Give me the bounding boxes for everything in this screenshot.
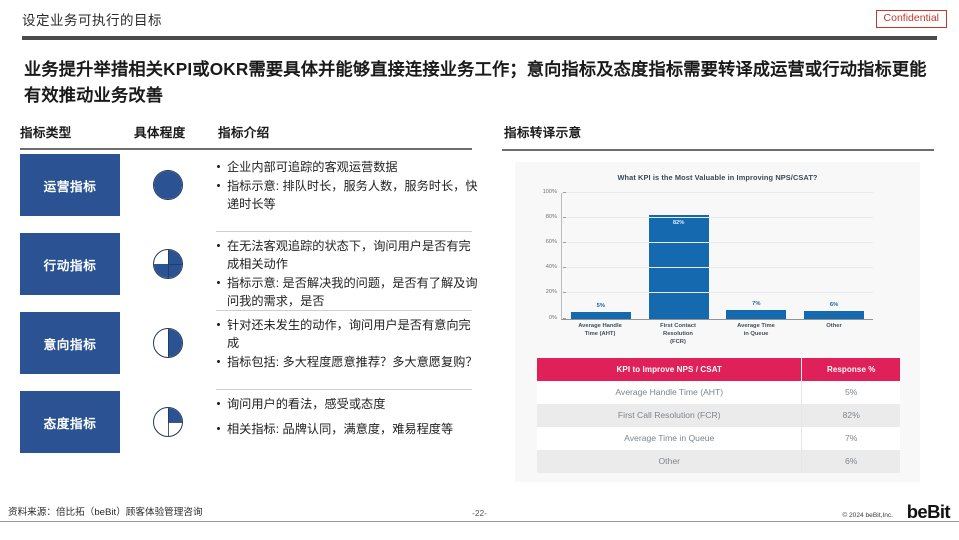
bullet-list: 针对还未发生的动作，询问用户是否有意向完成 指标包括: 多大程度愿意推荐？多大意… bbox=[216, 316, 480, 371]
right-panel-divider bbox=[502, 149, 934, 151]
description-cell: 企业内部可追踪的客观运营数据 指标示意: 排队时长，服务人数，服务时长，快递时长… bbox=[216, 154, 486, 214]
pie-divider bbox=[168, 422, 182, 423]
bullet-list: 在无法客观追踪的状态下，询问用户是否有完成相关动作 指标示意: 是否解决我的问题… bbox=[216, 237, 480, 310]
table-row: 意向指标 针对还未发生的动作，询问用户是否有意向完成 指标包括: 多大程度愿意推… bbox=[20, 312, 486, 391]
chart-y-tick-label: 0% bbox=[549, 315, 562, 321]
chart-bar-value-label: 82% bbox=[649, 220, 709, 226]
list-item: 指标示意: 是否解决我的问题，是否有了解及询问我的需求，是否 bbox=[216, 274, 480, 310]
column-header-degree: 具体程度 bbox=[134, 122, 186, 141]
embedded-report-screenshot: What KPI is the Most Valuable in Improvi… bbox=[515, 162, 920, 482]
description-cell: 在无法客观追踪的状态下，询问用户是否有完成相关动作 指标示意: 是否解决我的问题… bbox=[216, 233, 486, 311]
column-header-description: 指标介绍 bbox=[218, 122, 270, 141]
chart-y-tick-label: 20% bbox=[546, 289, 562, 295]
chart-x-tick-label: First ContactResolution(FCR) bbox=[639, 322, 717, 347]
list-item: 指标示意: 排队时长，服务人数，服务时长，快递时长等 bbox=[216, 177, 480, 213]
confidential-badge: Confidential bbox=[876, 10, 947, 28]
pie-divider bbox=[168, 264, 182, 265]
indicator-table-panel: 指标类型 具体程度 指标介绍 运营指标 企业内部可追踪的客观运营数据 指标示意:… bbox=[20, 122, 486, 482]
list-item: 询问用户的看法，感受或态度 bbox=[216, 395, 480, 413]
chart-bar-value-label: 6% bbox=[804, 302, 864, 308]
chart-bar-column: 6% bbox=[795, 193, 873, 319]
description-cell: 询问用户的看法，感受或态度 相关指标: 品牌认同，满意度，难易程度等 bbox=[216, 391, 486, 439]
chart-bar-column: 82% bbox=[640, 193, 718, 319]
chart-y-tick-label: 40% bbox=[546, 264, 562, 270]
chart-bar-column: 7% bbox=[718, 193, 796, 319]
cell-kpi-name: Average Time in Queue bbox=[537, 427, 802, 450]
chart-bar-value-label: 7% bbox=[726, 301, 786, 307]
translation-example-panel: 指标转译示意 What KPI is the Most Valuable in … bbox=[502, 122, 942, 482]
list-item: 针对还未发生的动作，询问用户是否有意向完成 bbox=[216, 316, 480, 352]
cell-response-pct: 7% bbox=[802, 427, 900, 450]
indicator-type-chip[interactable]: 意向指标 bbox=[20, 312, 120, 374]
chart-x-tick-label: Average Timein Queue bbox=[717, 322, 795, 347]
chart-y-tick-label: 60% bbox=[546, 239, 562, 245]
column-header-kpi: KPI to Improve NPS / CSAT bbox=[537, 358, 802, 381]
bullet-list: 询问用户的看法，感受或态度 相关指标: 品牌认同，满意度，难易程度等 bbox=[216, 395, 480, 438]
page-title: 设定业务可执行的目标 bbox=[22, 9, 162, 29]
chart-gridline: 40% bbox=[562, 267, 873, 268]
cell-response-pct: 82% bbox=[802, 404, 900, 427]
pie-fill bbox=[154, 171, 182, 199]
chart-x-tick-label: Average HandleTime (AHT) bbox=[561, 322, 639, 347]
cell-response-pct: 6% bbox=[802, 450, 900, 473]
description-cell: 针对还未发生的动作，询问用户是否有意向完成 指标包括: 多大程度愿意推荐？多大意… bbox=[216, 312, 486, 372]
list-item: 在无法客观追踪的状态下，询问用户是否有完成相关动作 bbox=[216, 237, 480, 273]
chart-gridline: 100% bbox=[562, 192, 873, 193]
chart-x-axis-labels: Average HandleTime (AHT)First ContactRes… bbox=[561, 322, 873, 347]
indicator-type-chip[interactable]: 行动指标 bbox=[20, 233, 120, 295]
chart-y-tick-label: 80% bbox=[546, 214, 562, 220]
cell-kpi-name: Other bbox=[537, 450, 802, 473]
pie-half-icon bbox=[153, 328, 183, 358]
table-row: Average Handle Time (AHT)5% bbox=[537, 381, 900, 404]
slide-header: 设定业务可执行的目标 Confidential bbox=[0, 0, 959, 38]
cell-kpi-name: Average Handle Time (AHT) bbox=[537, 381, 802, 404]
indicator-type-chip[interactable]: 态度指标 bbox=[20, 391, 120, 453]
column-header-response: Response % bbox=[802, 358, 900, 381]
row-divider bbox=[216, 231, 472, 232]
header-divider bbox=[22, 36, 937, 40]
column-header-divider bbox=[20, 148, 472, 150]
pie-fill bbox=[154, 264, 168, 278]
degree-cell bbox=[120, 154, 216, 216]
chart-plot-area: 5%82%7%6% 0%20%40%60%80%100% bbox=[561, 193, 873, 320]
chart-gridline: 0% bbox=[562, 318, 873, 319]
chart-bar-column: 5% bbox=[562, 193, 640, 319]
kpi-response-table: KPI to Improve NPS / CSAT Response % Ave… bbox=[537, 358, 900, 473]
table-header-row: KPI to Improve NPS / CSAT Response % bbox=[537, 358, 900, 381]
pie-fill bbox=[168, 329, 182, 357]
bebit-logo: beBit bbox=[907, 501, 950, 523]
footer-divider bbox=[0, 521, 959, 522]
degree-cell bbox=[120, 233, 216, 295]
list-item: 企业内部可追踪的客观运营数据 bbox=[216, 158, 480, 176]
kpi-bar-chart: What KPI is the Most Valuable in Improvi… bbox=[515, 168, 920, 348]
pie-divider bbox=[168, 329, 169, 357]
indicator-type-chip[interactable]: 运营指标 bbox=[20, 154, 120, 216]
degree-cell bbox=[120, 391, 216, 453]
pie-three-quarter-icon bbox=[153, 249, 183, 279]
chart-title: What KPI is the Most Valuable in Improvi… bbox=[515, 173, 920, 182]
pie-fill bbox=[168, 264, 182, 278]
list-item: 相关指标: 品牌认同，满意度，难易程度等 bbox=[216, 420, 480, 438]
indicator-rows: 运营指标 企业内部可追踪的客观运营数据 指标示意: 排队时长，服务人数，服务时长… bbox=[20, 154, 486, 470]
table-row: Average Time in Queue7% bbox=[537, 427, 900, 450]
pie-full-icon bbox=[153, 170, 183, 200]
bullet-list: 企业内部可追踪的客观运营数据 指标示意: 排队时长，服务人数，服务时长，快递时长… bbox=[216, 158, 480, 213]
table-row: First Call Resolution (FCR)82% bbox=[537, 404, 900, 427]
cell-kpi-name: First Call Resolution (FCR) bbox=[537, 404, 802, 427]
page-number: -22- bbox=[0, 508, 959, 518]
pie-fill bbox=[168, 250, 182, 264]
cell-response-pct: 5% bbox=[802, 381, 900, 404]
list-item: 指标包括: 多大程度愿意推荐？多大意愿复购？ bbox=[216, 353, 480, 371]
column-header-type: 指标类型 bbox=[20, 122, 72, 141]
table-row: 运营指标 企业内部可追踪的客观运营数据 指标示意: 排队时长，服务人数，服务时长… bbox=[20, 154, 486, 233]
table-row: 行动指标 在无法客观追踪的状态下，询问用户是否有完成相关动作 指标示意: 是否解… bbox=[20, 233, 486, 312]
chart-gridline: 20% bbox=[562, 292, 873, 293]
right-panel-title: 指标转译示意 bbox=[504, 122, 942, 141]
pie-fill bbox=[168, 408, 182, 422]
degree-cell bbox=[120, 312, 216, 374]
chart-x-tick-label: Other bbox=[795, 322, 873, 347]
copyright-text: © 2024 beBit,Inc. bbox=[842, 512, 893, 519]
chart-bars: 5%82%7%6% bbox=[562, 193, 873, 319]
slide-headline: 业务提升举措相关KPI或OKR需要具体并能够直接连接业务工作；意向指标及态度指标… bbox=[24, 56, 942, 108]
chart-bar-value-label: 5% bbox=[571, 303, 631, 309]
pie-quarter-icon bbox=[153, 407, 183, 437]
table-row: Other6% bbox=[537, 450, 900, 473]
chart-gridline: 80% bbox=[562, 217, 873, 218]
table-row: 态度指标 询问用户的看法，感受或态度 相关指标: 品牌认同，满意度，难易程度等 bbox=[20, 391, 486, 470]
chart-y-tick-label: 100% bbox=[543, 189, 562, 195]
indicator-table-header: 指标类型 具体程度 指标介绍 bbox=[20, 122, 486, 148]
chart-gridline: 60% bbox=[562, 242, 873, 243]
row-divider bbox=[216, 389, 472, 390]
row-divider bbox=[216, 310, 472, 311]
